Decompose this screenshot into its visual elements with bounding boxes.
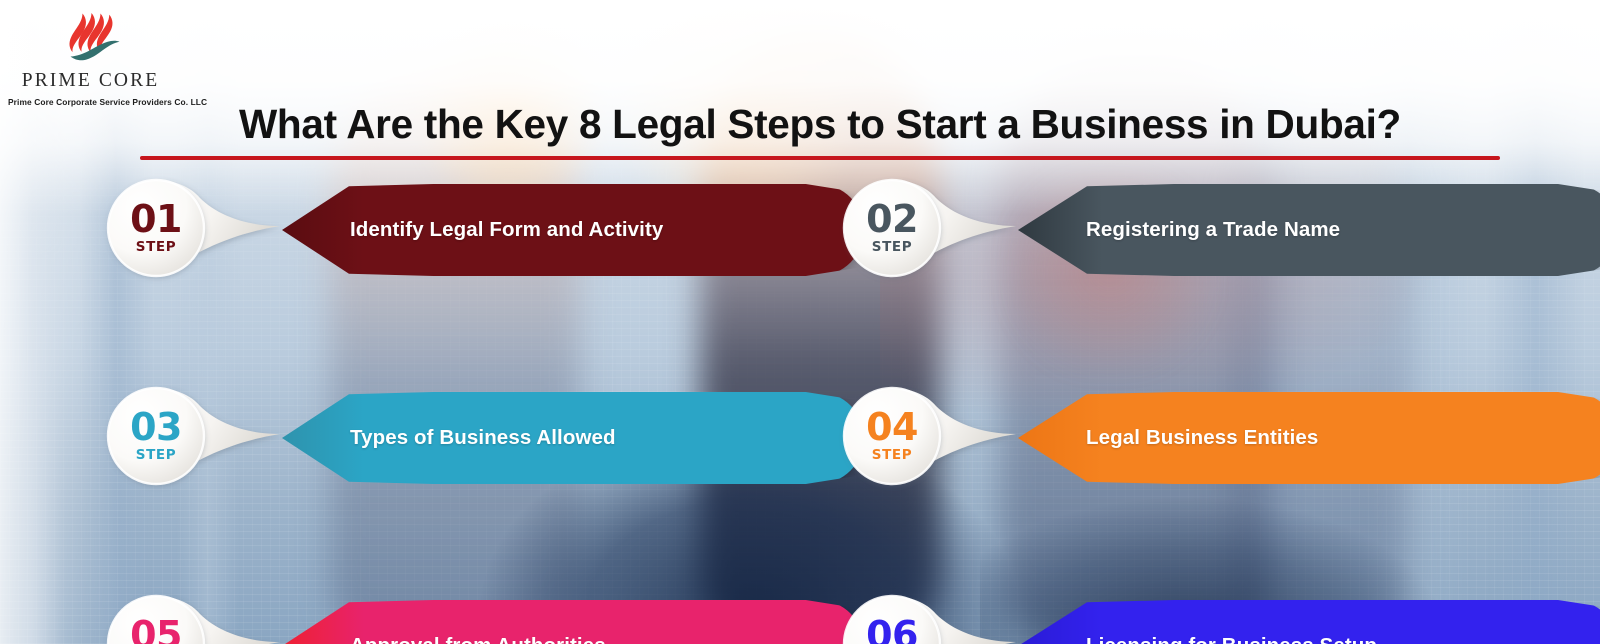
step-row: Identify Legal Form and Activity bbox=[104, 176, 864, 280]
step-banner-03[interactable]: Types of Business Allowed bbox=[282, 392, 864, 484]
step-word: STEP bbox=[872, 239, 912, 255]
logo-wordmark: PRIME CORE bbox=[8, 71, 173, 91]
step-row: Licensing for Business Setup bbox=[840, 592, 1600, 644]
step-label: Identify Legal Form and Activity bbox=[350, 218, 663, 242]
step-number: 03 bbox=[130, 409, 182, 445]
step-number: 01 bbox=[130, 201, 182, 237]
step-banner-06[interactable]: Licensing for Business Setup bbox=[1018, 600, 1600, 644]
step-label: Registering a Trade Name bbox=[1086, 218, 1340, 242]
step-word: STEP bbox=[136, 239, 176, 255]
step-row: Legal Business Entities bbox=[840, 384, 1600, 488]
page-title: What Are the Key 8 Legal Steps to Start … bbox=[140, 103, 1500, 146]
badge-text: 06STEP bbox=[840, 592, 944, 644]
step-word: STEP bbox=[872, 447, 912, 463]
step-number: 05 bbox=[130, 617, 182, 644]
step-banner-02[interactable]: Registering a Trade Name bbox=[1018, 184, 1600, 276]
step-banner-04[interactable]: Legal Business Entities bbox=[1018, 392, 1600, 484]
step-label: Approval from Authorities bbox=[350, 634, 606, 644]
steps-column-left: Identify Legal Form and Activity bbox=[104, 176, 864, 592]
step-label: Legal Business Entities bbox=[1086, 426, 1318, 450]
step-banner-01[interactable]: Identify Legal Form and Activity bbox=[282, 184, 864, 276]
badge-text: 03STEP bbox=[104, 384, 208, 488]
step-row: Registering a Trade Name bbox=[840, 176, 1600, 280]
step-label: Licensing for Business Setup bbox=[1086, 634, 1377, 644]
badge-text: 05STEP bbox=[104, 592, 208, 644]
brand-logo: PRIME CORE Prime Core Corporate Service … bbox=[8, 8, 173, 107]
badge-text: 04STEP bbox=[840, 384, 944, 488]
header: What Are the Key 8 Legal Steps to Start … bbox=[140, 103, 1500, 160]
title-underline bbox=[140, 156, 1500, 160]
step-number: 04 bbox=[866, 409, 918, 445]
badge-text: 01STEP bbox=[104, 176, 208, 280]
step-number: 06 bbox=[866, 617, 918, 644]
flame-swoosh-icon bbox=[8, 8, 173, 70]
step-word: STEP bbox=[136, 447, 176, 463]
step-row: Approval from Authorities bbox=[104, 592, 864, 644]
step-number: 02 bbox=[866, 201, 918, 237]
step-label: Types of Business Allowed bbox=[350, 426, 616, 450]
infographic-canvas: PRIME CORE Prime Core Corporate Service … bbox=[0, 0, 1600, 644]
steps-column-right: Registering a Trade Name bbox=[840, 176, 1600, 592]
step-row: Types of Business Allowed bbox=[104, 384, 864, 488]
step-banner-05[interactable]: Approval from Authorities bbox=[282, 600, 864, 644]
badge-text: 02STEP bbox=[840, 176, 944, 280]
